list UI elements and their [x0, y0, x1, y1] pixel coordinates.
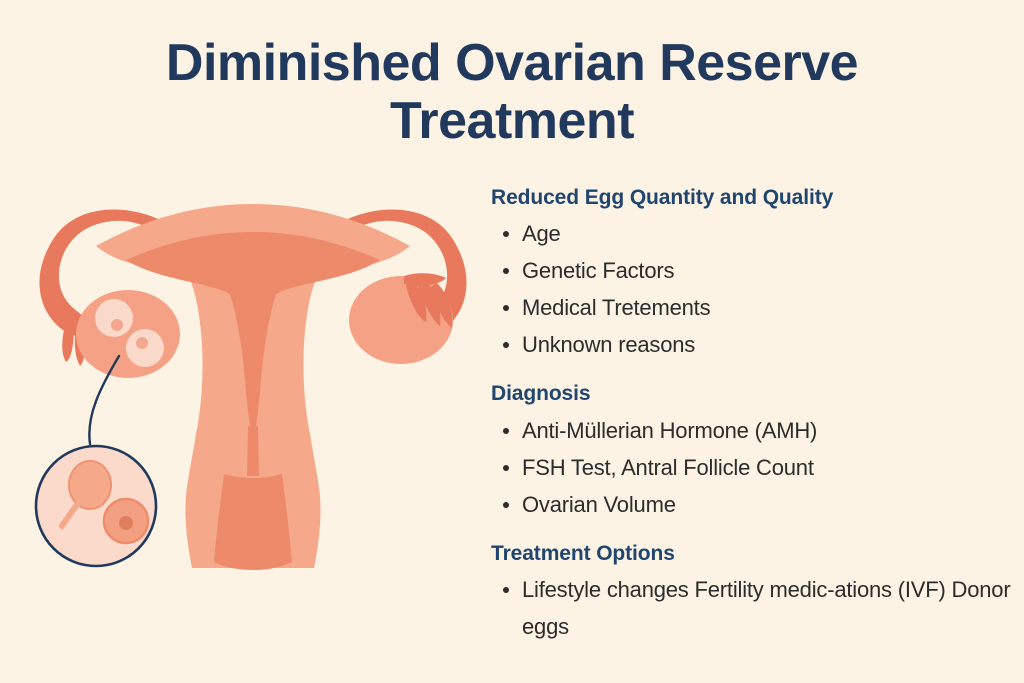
- list-item: Medical Tretements: [491, 289, 1011, 326]
- left-ovary: [76, 290, 180, 378]
- list-item: Ovarian Volume: [491, 486, 1011, 523]
- bullet-list: Lifestyle changes Fertility medic-ations…: [491, 571, 1011, 645]
- list-item: Unknown reasons: [491, 326, 1011, 363]
- female-reproductive-system-illustration: [18, 176, 488, 576]
- text-content-column: Reduced Egg Quantity and Quality Age Gen…: [491, 185, 1011, 651]
- cervical-canal: [247, 426, 259, 476]
- egg-cell: [104, 499, 148, 543]
- section-treatment-options: Treatment Options Lifestyle changes Fert…: [491, 541, 1011, 645]
- follicle-upper: [95, 299, 133, 337]
- section-reduced-egg-quantity-and-quality: Reduced Egg Quantity and Quality Age Gen…: [491, 185, 1011, 363]
- follicle-upper-dot: [111, 319, 123, 331]
- section-heading: Treatment Options: [491, 541, 1011, 567]
- follicle-lower-dot: [136, 337, 148, 349]
- list-item: Lifestyle changes Fertility medic-ations…: [491, 571, 1011, 645]
- list-item: Age: [491, 215, 1011, 252]
- page-title: Diminished Ovarian Reserve Treatment: [62, 34, 962, 150]
- section-heading: Diagnosis: [491, 381, 1011, 407]
- section-heading: Reduced Egg Quantity and Quality: [491, 185, 1011, 211]
- list-item: Anti-Müllerian Hormone (AMH): [491, 412, 1011, 449]
- infographic-poster: Diminished Ovarian Reserve Treatment: [0, 0, 1024, 683]
- list-item: FSH Test, Antral Follicle Count: [491, 449, 1011, 486]
- list-item: Genetic Factors: [491, 252, 1011, 289]
- vaginal-canal-inner: [214, 474, 292, 570]
- section-diagnosis: Diagnosis Anti-Müllerian Hormone (AMH) F…: [491, 381, 1011, 522]
- bullet-list: Age Genetic Factors Medical Tretements U…: [491, 215, 1011, 363]
- bullet-list: Anti-Müllerian Hormone (AMH) FSH Test, A…: [491, 412, 1011, 523]
